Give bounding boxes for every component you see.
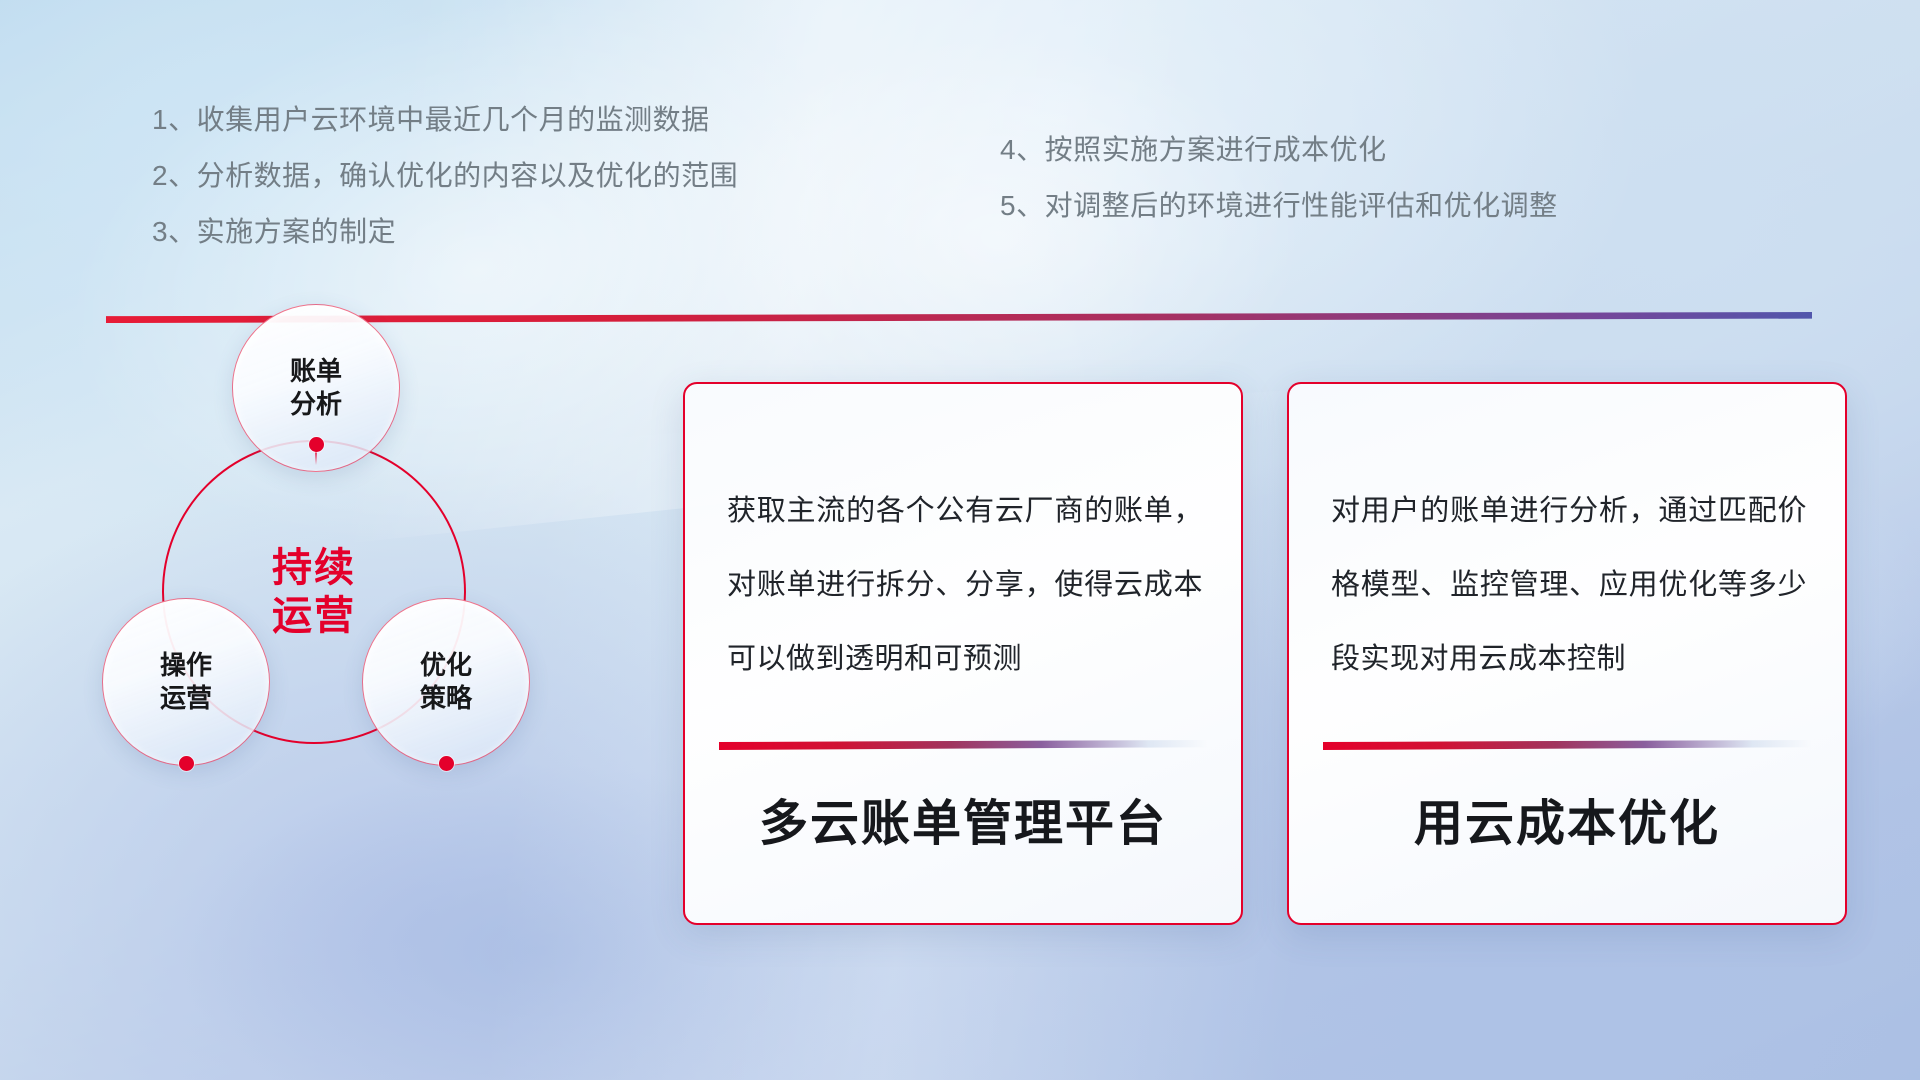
card-cloud-cost-optimization[interactable]: 对用户的账单进行分析，通过匹配价格模型、监控管理、应用优化等多少段实现对用云成本… (1287, 382, 1847, 925)
step-item-5: 5、对调整后的环境进行性能评估和优化调整 (1000, 178, 1558, 234)
step-item-1: 1、收集用户云环境中最近几个月的监测数据 (152, 92, 738, 148)
venn-node-label-operation: 操作 运营 (160, 649, 212, 716)
venn-dot-left (179, 756, 194, 771)
steps-list-right: 4、按照实施方案进行成本优化 5、对调整后的环境进行性能评估和优化调整 (1000, 122, 1558, 234)
step-item-4: 4、按照实施方案进行成本优化 (1000, 122, 1558, 178)
card-multi-cloud-billing-platform[interactable]: 获取主流的各个公有云厂商的账单，对账单进行拆分、分享，使得云成本可以做到透明和可… (683, 382, 1243, 925)
steps-list-left: 1、收集用户云环境中最近几个月的监测数据 2、分析数据，确认优化的内容以及优化的… (152, 92, 738, 260)
venn-node-label-strategy: 优化 策略 (420, 649, 472, 716)
card-2-title: 用云成本优化 (1289, 784, 1845, 855)
venn-node-strategy[interactable]: 优化 策略 (362, 598, 530, 766)
venn-dot-top (309, 437, 324, 452)
step-item-3: 3、实施方案的制定 (152, 204, 738, 260)
venn-node-operation[interactable]: 操作 运营 (102, 598, 270, 766)
card-1-title: 多云账单管理平台 (685, 784, 1241, 855)
card-1-body: 获取主流的各个公有云厂商的账单，对账单进行拆分、分享，使得云成本可以做到透明和可… (727, 474, 1203, 696)
card-2-divider (1323, 740, 1811, 750)
venn-dot-right (439, 756, 454, 771)
venn-diagram: 持续 运营 账单 分析 操作 运营 优化 策略 (96, 344, 576, 944)
card-1-divider (719, 740, 1207, 750)
step-item-2: 2、分析数据，确认优化的内容以及优化的范围 (152, 148, 738, 204)
card-2-body: 对用户的账单进行分析，通过匹配价格模型、监控管理、应用优化等多少段实现对用云成本… (1331, 474, 1807, 696)
venn-node-label-bill-analysis: 账单 分析 (290, 355, 342, 422)
